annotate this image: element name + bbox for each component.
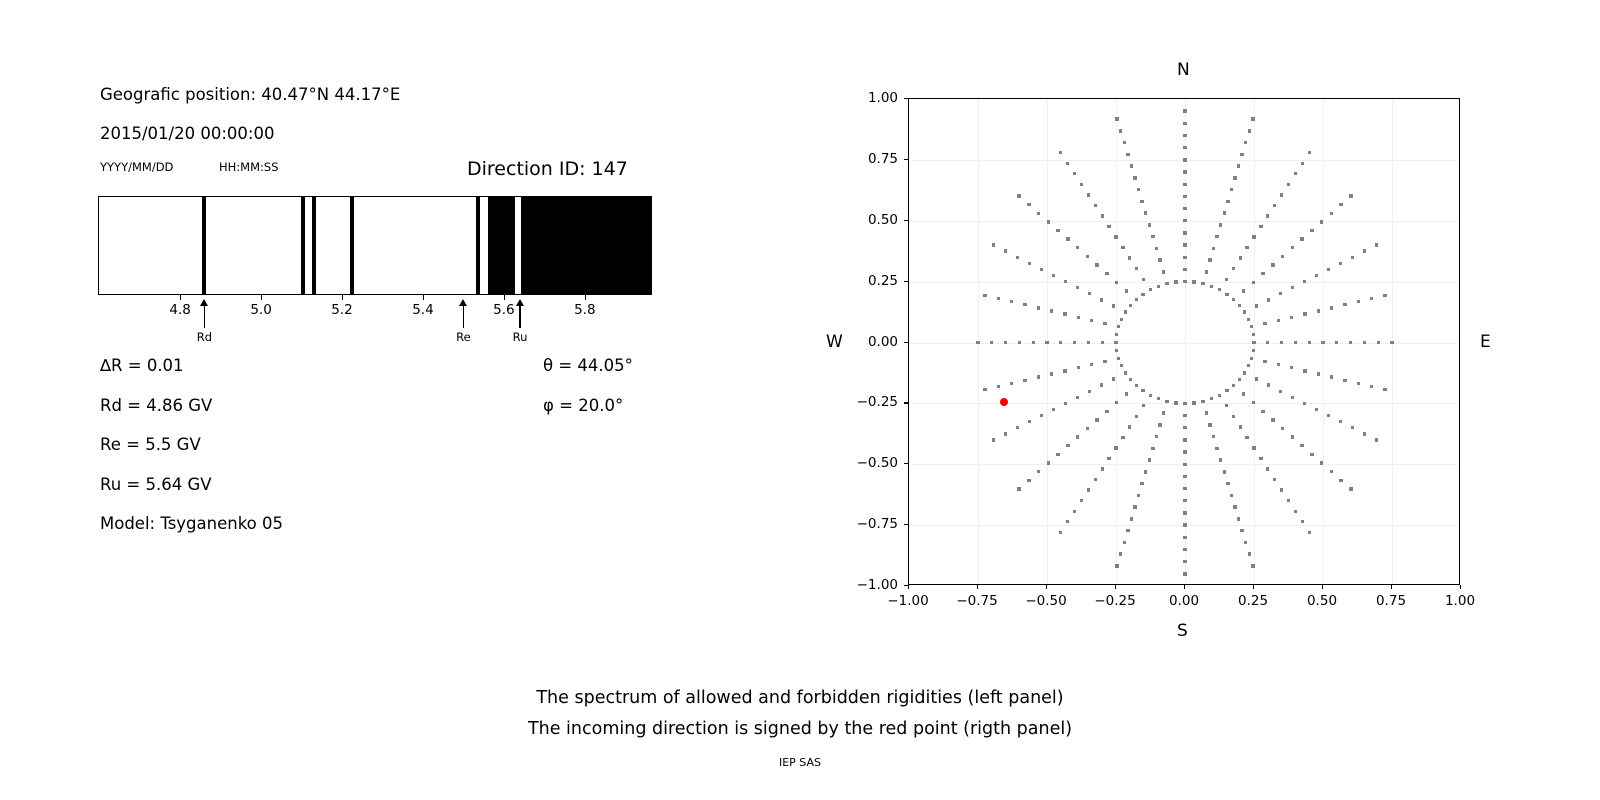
direction-grid-point [1125, 392, 1128, 395]
map-x-axis-tick-label: 1.00 [1445, 593, 1475, 609]
direction-grid-point [1027, 203, 1030, 206]
direction-grid-point [1158, 423, 1161, 426]
direction-grid-point [1183, 134, 1186, 137]
direction-grid-point [1225, 293, 1228, 296]
direction-grid-point [1357, 382, 1360, 385]
annotation-arrow-ru [519, 304, 520, 328]
direction-grid-point [1040, 268, 1043, 271]
direction-grid-point [1059, 531, 1062, 534]
direction-grid-point [1077, 366, 1080, 369]
map-y-axis-tick [904, 98, 908, 99]
caption-line-1: The spectrum of allowed and forbidden ri… [0, 688, 1600, 708]
direction-grid-point [1115, 401, 1118, 404]
direction-grid-point [1240, 529, 1243, 532]
map-x-axis-tick-label: 0.75 [1376, 593, 1406, 609]
rigidity-axis-tick-label: 5.6 [493, 302, 514, 318]
direction-grid-point [1114, 446, 1117, 449]
rigidity-axis-tick-label: 5.4 [412, 302, 433, 318]
figure-canvas: Geografic position: 40.47°N 44.17°E 2015… [0, 0, 1600, 800]
direction-grid-point [1230, 494, 1233, 497]
direction-grid-point [1303, 402, 1306, 405]
direction-grid-point [1339, 262, 1342, 265]
forbidden-band [488, 197, 515, 294]
direction-grid-point [1141, 293, 1144, 296]
direction-grid-point [1129, 378, 1132, 381]
direction-grid-point [1225, 389, 1228, 392]
direction-grid-point [1037, 306, 1040, 309]
direction-grid-point [1126, 529, 1129, 532]
direction-grid-point [1232, 267, 1235, 270]
map-x-axis-tick-label: −0.25 [1094, 593, 1135, 609]
annotation-label-ru: Ru [513, 330, 528, 344]
direction-grid-point [1137, 188, 1140, 191]
map-y-axis-tick-label: −0.25 [842, 394, 898, 410]
direction-grid-point [1028, 262, 1031, 265]
direction-grid-point [1308, 531, 1311, 534]
direction-grid-point [1239, 256, 1242, 259]
direction-grid-point [1321, 341, 1324, 344]
direction-grid-point [1390, 341, 1393, 344]
map-x-axis-tick [1322, 585, 1323, 589]
direction-grid-point [1183, 402, 1186, 405]
direction-grid-point [1115, 349, 1118, 352]
direction-grid-point [1290, 316, 1293, 319]
direction-grid-point [1225, 278, 1228, 281]
direction-grid-point [1050, 372, 1053, 375]
compass-label-west: W [826, 332, 843, 352]
direction-grid-point [1040, 414, 1043, 417]
direction-grid-point [1135, 384, 1138, 387]
direction-grid-point [1291, 246, 1294, 249]
direction-grid-point [1064, 402, 1067, 405]
direction-grid-point [1119, 129, 1122, 132]
map-x-axis-tick [1184, 585, 1185, 589]
direction-grid-point [1103, 322, 1106, 325]
direction-grid-point [983, 294, 986, 297]
direction-grid-point [1271, 263, 1274, 266]
direction-grid-point [1310, 453, 1313, 456]
direction-grid-point [1301, 520, 1304, 523]
direction-grid-point [1141, 389, 1144, 392]
direction-grid-point [1320, 461, 1323, 464]
direction-grid-point [1320, 220, 1323, 223]
direction-grid-point [1052, 408, 1055, 411]
direction-grid-point [1377, 341, 1380, 344]
direction-grid-point [1047, 461, 1050, 464]
direction-grid-point [1124, 371, 1127, 374]
direction-grid-point [997, 297, 1000, 300]
parameter-text: ∆R = 0.01 [100, 356, 184, 375]
direction-grid-point [1023, 303, 1026, 306]
direction-grid-point [1208, 258, 1211, 261]
direction-grid-point [1095, 418, 1098, 421]
direction-grid-point [983, 388, 986, 391]
direction-grid-point [1142, 404, 1145, 407]
direction-grid-point [1287, 183, 1290, 186]
direction-grid-point [1183, 548, 1186, 551]
direction-grid-point [1165, 400, 1168, 403]
direction-grid-point [1032, 341, 1035, 344]
direction-grid-point [1140, 482, 1143, 485]
direction-grid-point [1004, 432, 1007, 435]
direction-grid-point [1223, 470, 1226, 473]
direction-grid-point [1183, 268, 1186, 271]
direction-grid-point [1183, 146, 1186, 149]
direction-grid-point [1294, 341, 1297, 344]
compass-label-south: S [1177, 621, 1188, 641]
direction-grid-point [1076, 286, 1079, 289]
annotation-arrow-re [463, 304, 464, 328]
direction-grid-point [1230, 188, 1233, 191]
direction-grid-point [1117, 325, 1120, 328]
direction-grid-point [1208, 423, 1211, 426]
direction-grid-point [1330, 375, 1333, 378]
direction-grid-point [1259, 225, 1262, 228]
direction-grid-point [1087, 488, 1090, 491]
direction-grid-point [1248, 552, 1251, 555]
direction-grid-point [1115, 281, 1118, 284]
rigidity-spectrum-bar [98, 196, 652, 295]
direction-grid-point [1233, 505, 1236, 508]
direction-grid-point [1225, 404, 1228, 407]
direction-grid-point [1212, 247, 1215, 250]
direction-grid-point [1076, 246, 1079, 249]
direction-grid-point [1183, 450, 1186, 453]
map-x-axis-tick [1253, 585, 1254, 589]
direction-grid-point [1124, 310, 1127, 313]
direction-grid-point [1157, 397, 1160, 400]
direction-grid-point [1080, 183, 1083, 186]
map-y-axis-tick-label: −0.50 [842, 455, 898, 471]
direction-grid-point [1300, 444, 1303, 447]
direction-grid-point [1144, 211, 1147, 214]
direction-grid-point [1183, 243, 1186, 246]
direction-grid-point [1247, 318, 1250, 321]
angle-parameter-text: φ = 20.0° [543, 396, 623, 415]
rigidity-axis-tick [342, 295, 343, 300]
direction-grid-point [1308, 341, 1311, 344]
annotation-arrowhead-rd [200, 299, 208, 306]
direction-grid-point [1291, 396, 1294, 399]
direction-grid-point [1327, 414, 1330, 417]
direction-grid-point [1059, 341, 1062, 344]
direction-grid-point [1017, 194, 1020, 197]
direction-grid-point [1303, 369, 1306, 372]
direction-grid-point [1251, 564, 1254, 567]
direction-grid-point [1135, 298, 1138, 301]
direction-grid-point [1205, 270, 1208, 273]
direction-grid-point [1010, 382, 1013, 385]
direction-grid-point [1242, 289, 1245, 292]
direction-grid-point [1066, 162, 1069, 165]
direction-grid-point [1183, 414, 1186, 417]
direction-grid-point [1114, 341, 1117, 344]
angle-parameter-text: θ = 44.05° [543, 356, 633, 375]
direction-grid-point [1245, 246, 1248, 249]
rigidity-axis: 4.85.05.25.45.65.8 [98, 295, 652, 297]
direction-grid-point [1133, 505, 1136, 508]
direction-grid-point [1045, 341, 1048, 344]
direction-grid-point [1174, 280, 1177, 283]
direction-grid-point [1201, 282, 1204, 285]
direction-grid-point [1183, 438, 1186, 441]
direction-grid-point [1183, 426, 1186, 429]
direction-grid-point [1155, 247, 1158, 250]
map-y-axis-tick [904, 220, 908, 221]
direction-grid-point [1205, 411, 1208, 414]
direction-grid-point [1137, 494, 1140, 497]
direction-grid-point [1250, 357, 1253, 360]
map-y-axis-tick-label: −0.75 [842, 516, 898, 532]
direction-grid-point [1037, 212, 1040, 215]
map-y-axis-tick-label: 1.00 [842, 90, 898, 106]
direction-grid-point [1183, 487, 1186, 490]
rigidity-axis-tick [504, 295, 505, 300]
direction-grid-point [1037, 470, 1040, 473]
direction-grid-point [1094, 204, 1097, 207]
direction-grid-point [1263, 322, 1266, 325]
direction-grid-point [1363, 432, 1366, 435]
direction-grid-point [1252, 341, 1255, 344]
map-y-axis-tick-label: 0.25 [842, 273, 898, 289]
direction-grid-point [1343, 379, 1346, 382]
direction-grid-point [1105, 410, 1108, 413]
direction-grid-point [1056, 453, 1059, 456]
map-y-axis-tick-label: 0.50 [842, 212, 898, 228]
direction-grid-point [1218, 394, 1221, 397]
direction-grid-point [1308, 151, 1311, 154]
direction-grid-point [1086, 427, 1089, 430]
map-y-axis-tick [904, 159, 908, 160]
direction-grid-point [1120, 364, 1123, 367]
direction-grid-point [1158, 258, 1161, 261]
rigidity-axis-tick [261, 295, 262, 300]
direction-grid-point [1266, 341, 1269, 344]
direction-grid-point [1130, 164, 1133, 167]
direction-grid-point [1315, 274, 1318, 277]
direction-grid-point [1183, 280, 1186, 283]
direction-grid-point [1232, 384, 1235, 387]
direction-grid-point [1183, 122, 1186, 125]
map-y-axis-tick [904, 281, 908, 282]
forbidden-band [350, 197, 354, 294]
direction-grid-point [1192, 280, 1195, 283]
direction-grid-point [1247, 364, 1250, 367]
direction-grid-point [1349, 194, 1352, 197]
direction-grid-point [1301, 162, 1304, 165]
direction-grid-point [1140, 200, 1143, 203]
direction-grid-point [1112, 377, 1115, 380]
direction-grid-point [1267, 383, 1270, 386]
direction-grid-point [1349, 487, 1352, 490]
direction-grid-point [1351, 426, 1354, 429]
direction-grid-point [1327, 268, 1330, 271]
direction-grid-point [1243, 371, 1246, 374]
direction-grid-point [1142, 278, 1145, 281]
direction-grid-point [1266, 214, 1269, 217]
direction-grid-point [1183, 475, 1186, 478]
direction-grid-point [1233, 176, 1236, 179]
direction-grid-point [1287, 499, 1290, 502]
direction-grid-point [1339, 479, 1342, 482]
direction-grid-point [1080, 499, 1083, 502]
direction-grid-point [1303, 280, 1306, 283]
direction-grid-point [1238, 304, 1241, 307]
rigidity-axis-tick-label: 5.8 [574, 302, 595, 318]
direction-grid-point [1244, 541, 1247, 544]
annotation-label-re: Re [456, 330, 471, 344]
direction-grid-point [1107, 457, 1110, 460]
direction-grid-point [1183, 511, 1186, 514]
map-y-axis-tick [904, 585, 908, 586]
direction-grid-point [1261, 272, 1264, 275]
direction-grid-point [1330, 306, 1333, 309]
direction-grid-point [1174, 401, 1177, 404]
direction-grid-point [1128, 256, 1131, 259]
direction-grid-point [1126, 153, 1129, 156]
direction-grid-point [1232, 415, 1235, 418]
direction-grid-point [1073, 172, 1076, 175]
direction-grid-point [1052, 274, 1055, 277]
map-y-axis-tick [904, 524, 908, 525]
direction-grid-point [1183, 523, 1186, 526]
direction-grid-point [1101, 214, 1104, 217]
parameter-text: Re = 5.5 GV [100, 435, 201, 454]
map-y-axis-tick-label: −1.00 [842, 577, 898, 593]
direction-grid-point [1114, 235, 1117, 238]
direction-grid-point [1087, 341, 1090, 344]
direction-grid-point [1219, 223, 1222, 226]
direction-grid-point [1066, 444, 1069, 447]
direction-grid-point [1115, 564, 1118, 567]
direction-grid-point [1375, 438, 1378, 441]
direction-grid-point [1101, 467, 1104, 470]
direction-grid-point [1183, 231, 1186, 234]
direction-grid-point [1201, 400, 1204, 403]
direction-grid-point [1252, 401, 1255, 404]
direction-grid-point [1162, 270, 1165, 273]
direction-grid-point [1251, 117, 1254, 120]
direction-grid-point [1281, 427, 1284, 430]
map-x-axis-tick [1460, 585, 1461, 589]
direction-grid-point [1076, 435, 1079, 438]
direction-grid-point [1149, 288, 1152, 291]
direction-grid-point [1135, 267, 1138, 270]
direction-grid-point [1087, 193, 1090, 196]
direction-grid-point [1119, 552, 1122, 555]
direction-grid-point [1016, 256, 1019, 259]
footer-credit: IEP SAS [0, 756, 1600, 769]
direction-id-text: Direction ID: 147 [467, 158, 628, 180]
direction-grid-point [1232, 298, 1235, 301]
direction-grid-point [1339, 420, 1342, 423]
direction-grid-point [1212, 435, 1215, 438]
parameter-text: Ru = 5.64 GV [100, 475, 212, 494]
direction-grid-point [1363, 249, 1366, 252]
direction-grid-point [1183, 195, 1186, 198]
direction-grid-point [1183, 560, 1186, 563]
map-x-axis-tick [1391, 585, 1392, 589]
direction-grid-point [1010, 300, 1013, 303]
direction-grid-point [1280, 193, 1283, 196]
direction-grid-point [1066, 520, 1069, 523]
direction-grid-point [1056, 229, 1059, 232]
direction-grid-point [1162, 411, 1165, 414]
direction-grid-point [1100, 298, 1103, 301]
selected-direction-point [1000, 398, 1008, 406]
direction-grid-point [1090, 363, 1093, 366]
direction-grid-point [1242, 392, 1245, 395]
direction-grid-point [1155, 435, 1158, 438]
direction-grid-point [1330, 470, 1333, 473]
direction-grid-point [1115, 117, 1118, 120]
direction-grid-point [1183, 536, 1186, 539]
map-x-axis-tick-label: −1.00 [887, 593, 928, 609]
parameter-text: Rd = 4.86 GV [100, 396, 212, 415]
direction-grid-point [1383, 388, 1386, 391]
direction-grid-point [1183, 158, 1186, 161]
direction-grid-point [1064, 280, 1067, 283]
direction-grid-point [1375, 243, 1378, 246]
direction-grid-point [1027, 479, 1030, 482]
direction-grid-point [1094, 478, 1097, 481]
map-x-axis-tick-label: 0.00 [1169, 593, 1199, 609]
direction-grid-point [1273, 478, 1276, 481]
direction-grid-point [1105, 272, 1108, 275]
direction-grid-point [1239, 425, 1242, 428]
direction-grid-point [1259, 457, 1262, 460]
rigidity-axis-tick [180, 295, 181, 300]
annotation-arrow-rd [204, 304, 205, 328]
direction-grid-point [1280, 341, 1283, 344]
direction-grid-point [1028, 420, 1031, 423]
direction-grid-point [1100, 383, 1103, 386]
direction-grid-point [1183, 207, 1186, 210]
direction-grid-point [1226, 482, 1229, 485]
map-y-axis-tick [904, 463, 908, 464]
direction-grid-point [1294, 510, 1297, 513]
direction-grid-point [1135, 415, 1138, 418]
direction-grid-point [992, 438, 995, 441]
direction-grid-point [1151, 235, 1154, 238]
annotation-label-rd: Rd [197, 330, 212, 344]
direction-grid-point [990, 341, 993, 344]
direction-grid-point [1183, 572, 1186, 575]
direction-grid-point [997, 385, 1000, 388]
direction-grid-point [1218, 288, 1221, 291]
direction-grid-point [1073, 341, 1076, 344]
direction-grid-point [1023, 379, 1026, 382]
forbidden-band [202, 197, 206, 294]
direction-map-axes [908, 98, 1460, 585]
direction-grid-point [1121, 436, 1124, 439]
direction-grid-point [1016, 426, 1019, 429]
direction-grid-point [1157, 285, 1160, 288]
direction-grid-point [1165, 282, 1168, 285]
direction-grid-point [1077, 316, 1080, 319]
direction-grid-point [1266, 467, 1269, 470]
annotation-arrowhead-re [459, 299, 467, 306]
direction-grid-point [1317, 309, 1320, 312]
direction-grid-point [1237, 517, 1240, 520]
compass-label-east: E [1480, 332, 1491, 352]
direction-grid-point [1317, 372, 1320, 375]
map-y-axis-tick [904, 342, 908, 343]
direction-grid-point [1215, 447, 1218, 450]
direction-grid-point [1271, 418, 1274, 421]
direction-grid-point [1095, 263, 1098, 266]
direction-grid-point [1300, 237, 1303, 240]
